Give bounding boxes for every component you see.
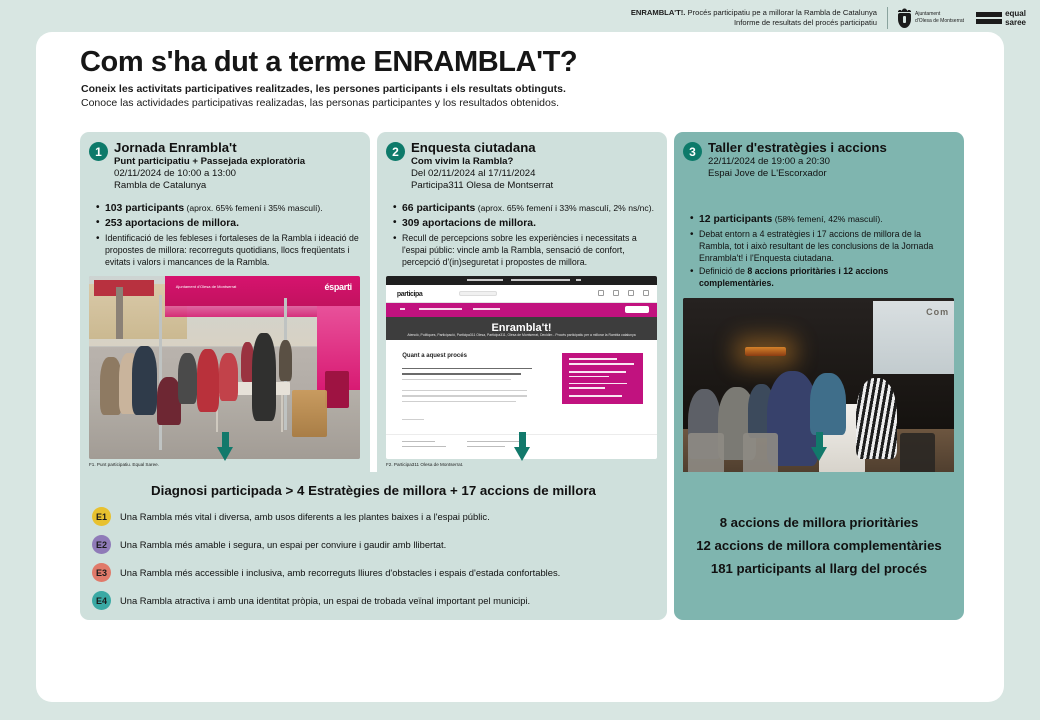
photo2-read-more-link[interactable] — [402, 419, 424, 420]
photo1-person-8 — [252, 333, 276, 421]
strategy-badge-e4: E4 — [92, 591, 111, 610]
card-3-bullet-1: 12 participants (58% femení, 42% masculí… — [699, 213, 954, 227]
card-3-bullet-3-normal: Definició de — [699, 266, 747, 276]
ajuntament-logo: Ajuntament d'Olesa de Montserrat — [898, 8, 964, 28]
card-2-bullet-1-strong: 66 participants — [402, 203, 475, 214]
card-2-bullets: 66 participants (aprox. 65% femení i 33%… — [386, 202, 657, 269]
down-arrow-icon-1 — [219, 432, 232, 462]
card-2-title: Enquesta ciutadana — [411, 141, 657, 156]
card-1-photo-caption: F1. Punt participatiu. Equal Saree. — [89, 462, 360, 468]
photo1-person-3 — [132, 346, 156, 416]
photo2-section-title: Quant a aquest procés — [402, 353, 467, 359]
summary-line-1: 8 accions de millora prioritàries — [720, 515, 919, 531]
photo1-tree — [116, 287, 123, 338]
report-header-line2: Informe de resultats del procés particip… — [631, 18, 877, 28]
card-1-date: 02/11/2024 de 10:00 a 13:00 — [114, 168, 360, 180]
card-1-bullet-1: 103 participants (aprox. 65% femení i 35… — [105, 202, 360, 216]
strategy-item-e3: E3 Una Rambla més accessible i inclusiva… — [92, 563, 655, 582]
photo2-body-line-2 — [402, 373, 521, 374]
report-header-line1-rest: Procés participatiu pe a millorar la Ram… — [685, 8, 877, 17]
card-3-bullet-1-strong: 12 participants — [699, 214, 772, 225]
photo1-canopy-logo-text: Ajuntament d'Olesa de Montserrat — [176, 284, 237, 289]
photo3-projection-screen: Com — [873, 301, 954, 374]
photo2-browser-topbar — [386, 276, 657, 285]
card-2-number-badge: 2 — [386, 142, 405, 161]
equal-saree-logo-text: equal saree — [1005, 9, 1026, 27]
summary-panel: 8 accions de millora prioritàries 12 acc… — [674, 472, 964, 620]
photo2-body-line-5 — [402, 395, 527, 396]
shield-shape-icon — [898, 13, 911, 28]
header-divider — [887, 7, 888, 29]
ajuntament-logo-line1: Ajuntament — [915, 11, 964, 18]
card-2-date: Del 02/11/2024 al 17/11/2024 — [411, 168, 657, 180]
photo1-red-wall — [94, 280, 154, 296]
down-arrow-icon-2 — [516, 432, 529, 462]
photo2-follow-button[interactable] — [625, 306, 649, 314]
card-1-place: Rambla de Catalunya — [114, 180, 360, 192]
strategy-item-e4: E4 Una Rambla atractiva i amb una identi… — [92, 591, 655, 610]
photo2-hero: Enrambla't! Atenció, Polítiques, Partici… — [386, 317, 657, 341]
photo2-site-nav-icons[interactable] — [598, 290, 649, 296]
down-arrow-icon-3 — [813, 432, 826, 462]
card-3-bullets: 12 participants (58% femení, 42% masculí… — [683, 213, 954, 289]
crown-icon — [898, 8, 911, 12]
card-2-bullet-2-strong: 309 aportacions de millora. — [402, 218, 536, 229]
card-1-bullet-2: 253 aportacions de millora. — [105, 217, 360, 231]
photo2-body-line-3 — [402, 379, 510, 380]
card-2-header: 2 Enquesta ciutadana Com vivim la Rambla… — [386, 141, 657, 193]
photo1-person-4 — [178, 353, 197, 404]
card-3-date: 22/11/2024 de 19:00 a 20:30 — [708, 156, 954, 168]
top-bar: ENRAMBLA'T!. Procés participatiu pe a mi… — [0, 0, 1040, 36]
card-3-bullet-1-normal: (58% femení, 42% masculí). — [772, 214, 882, 224]
photo1-canopy-slogan: ésparti — [324, 282, 351, 292]
photo2-site-nav: participa — [386, 285, 657, 302]
photo2-sidebar-panel — [562, 353, 643, 404]
photo1-bin — [325, 371, 349, 408]
card-3-bullet-2: Debat entorn a 4 estratègies i 17 accion… — [699, 229, 954, 264]
strategy-badge-e1: E1 — [92, 507, 111, 526]
arrow-cell-3 — [674, 432, 964, 462]
equal-bars-icon — [976, 12, 1002, 24]
strategy-badge-e3: E3 — [92, 563, 111, 582]
photo3-heater-icon — [745, 347, 786, 356]
card-1-number-badge: 1 — [89, 142, 108, 161]
diagnosi-title: Diagnosi participada > 4 Estratègies de … — [92, 483, 655, 498]
photo1-person-9 — [279, 340, 293, 380]
card-2-bullet-3: Recull de percepcions sobre les experièn… — [402, 233, 657, 268]
equal-saree-logo: equal saree — [976, 9, 1026, 27]
equal-word-1: equal — [1005, 9, 1026, 18]
photo2-body-line-4 — [402, 390, 527, 391]
photo2-hero-subtitle: Atenció, Polítiques, Participació, Parti… — [386, 333, 657, 337]
summary-line-3: 181 participants al llarg del procés — [711, 561, 927, 577]
card-2-subtitle: Com vivim la Rambla? — [411, 156, 657, 168]
photo3-person-5 — [810, 373, 845, 435]
logo-group: Ajuntament d'Olesa de Montserrat equal s… — [898, 8, 1026, 28]
photo2-body-line-1 — [402, 368, 532, 369]
card-1-title: Jornada Enrambla't — [114, 141, 360, 156]
card-3-header: 3 Taller d'estratègies i accions 22/11/2… — [683, 141, 954, 180]
infographic-sheet: Com s'ha dut a terme ENRAMBLA'T? Coneix … — [36, 32, 1004, 702]
card-1-bullet-1-strong: 103 participants — [105, 203, 184, 214]
photo2-breadcrumb-bar — [386, 303, 657, 317]
photo2-hero-title: Enrambla't! — [386, 322, 657, 334]
card-1-bullet-2-strong: 253 aportacions de millora. — [105, 218, 239, 229]
page-subtitle-catalan: Coneix les activitats participatives rea… — [81, 83, 566, 95]
strategy-text-e1: Una Rambla més vital i diversa, amb usos… — [120, 511, 490, 523]
photo2-body-line-6 — [402, 401, 516, 402]
photo3-screen-text: Com — [926, 307, 949, 317]
ajuntament-logo-text: Ajuntament d'Olesa de Montserrat — [915, 11, 964, 25]
photo1-table-leg-2 — [281, 395, 283, 432]
photo1-person-5 — [197, 349, 219, 411]
card-2-bullet-1-normal: (aprox. 65% femení i 33% masculí, 2% ns/… — [475, 203, 654, 213]
card-2-bullet-2: 309 aportacions de millora. — [402, 217, 657, 231]
photo2-site-logo: participa — [397, 291, 423, 298]
photo1-pole-left — [159, 295, 162, 451]
card-3-spacer — [683, 180, 954, 204]
card-2-bullet-1: 66 participants (aprox. 65% femení i 33%… — [402, 202, 657, 216]
card-3-bullet-3: Definició de 8 accions prioritàries i 12… — [699, 266, 954, 289]
card-1-bullet-1-normal: (aprox. 65% femení i 35% masculí). — [184, 203, 323, 213]
card-1-subtitle: Punt participatiu + Passejada exploratòr… — [114, 156, 360, 168]
strategy-item-e2: E2 Una Rambla més amable i segura, un es… — [92, 535, 655, 554]
photo1-person-6 — [219, 353, 238, 401]
arrow-cell-1 — [80, 432, 370, 462]
page-subtitle-spanish: Conoce las actividades participativas re… — [81, 97, 559, 109]
report-header-line1-bold: ENRAMBLA'T!. — [631, 8, 686, 17]
card-2-place: Participa311 Olesa de Montserrat — [411, 180, 657, 192]
strategy-text-e4: Una Rambla atractiva i amb una identitat… — [120, 595, 530, 607]
card-1-bullet-3: Identificació de les febleses i fortales… — [105, 233, 360, 268]
results-row: Diagnosi participada > 4 Estratègies de … — [80, 472, 964, 620]
strategy-text-e2: Una Rambla més amable i segura, un espai… — [120, 539, 446, 551]
diagnosi-panel: Diagnosi participada > 4 Estratègies de … — [80, 472, 667, 620]
page-title: Com s'ha dut a terme ENRAMBLA'T? — [80, 46, 577, 79]
card-1-bullets: 103 participants (aprox. 65% femení i 35… — [89, 202, 360, 269]
card-3-number-badge: 3 — [683, 142, 702, 161]
equal-word-2: saree — [1005, 18, 1026, 27]
report-header-text: ENRAMBLA'T!. Procés participatiu pe a mi… — [631, 8, 877, 29]
card-3-title: Taller d'estratègies i accions — [708, 141, 954, 156]
arrow-cell-2 — [377, 432, 667, 462]
summary-line-2: 12 accions de millora complementàries — [696, 538, 942, 554]
arrows-row — [80, 432, 964, 462]
strategy-text-e3: Una Rambla més accessible i inclusiva, a… — [120, 567, 560, 579]
card-3-place: Espai Jove de L'Escorxador — [708, 168, 954, 180]
strategy-item-e1: E1 Una Rambla més vital i diversa, amb u… — [92, 507, 655, 526]
strategy-badge-e2: E2 — [92, 535, 111, 554]
card-1-header: 1 Jornada Enrambla't Punt participatiu +… — [89, 141, 360, 193]
ajuntament-logo-line2: d'Olesa de Montserrat — [915, 18, 964, 25]
photo2-site-search-box[interactable] — [459, 291, 497, 295]
card-2-photo-caption: F2. Participa311 Olesa de Montserrat. — [386, 462, 657, 468]
photo1-wooden-chair — [292, 390, 327, 438]
shield-icon — [898, 8, 911, 28]
